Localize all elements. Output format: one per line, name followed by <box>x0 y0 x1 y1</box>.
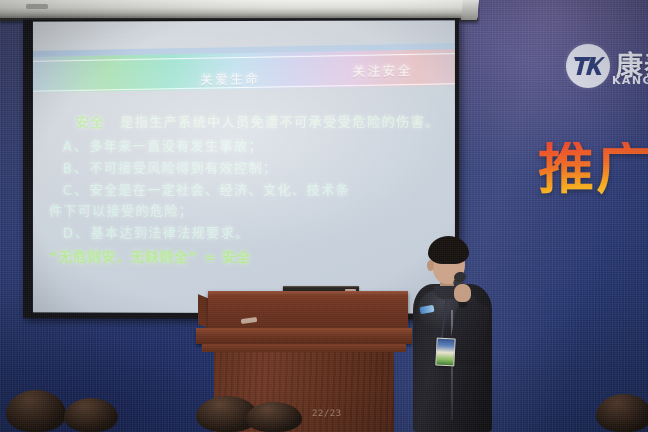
audience-head <box>596 394 648 432</box>
slide-item-label: C、 <box>63 183 90 199</box>
presentation-photo: 康泰 KANGT 推广 关爱生命 关注安全 安全 是指生产系统中人员免遭不可承受… <box>0 0 648 432</box>
slide-list-item: C、安全是在一定社会、经济、文化、技术条 <box>49 181 443 203</box>
slide-item-text: 多年来一直没有发生事故； <box>89 139 262 155</box>
slide-lead-text: 是指生产系统中人员免遭不可承受受危险的伤害。 <box>120 115 439 131</box>
podium-desktop-bevel <box>208 291 408 296</box>
speaker-ear <box>427 260 434 271</box>
speaker-hair <box>428 236 469 264</box>
projection-screen: 关爱生命 关注安全 安全 是指生产系统中人员免遭不可承受受危险的伤害。 A、多年… <box>33 20 455 313</box>
company-name-latin: KANGT <box>612 74 648 87</box>
speaker-figure <box>406 228 498 432</box>
slide-list-item: D、基本达到法律法规要求。 <box>49 224 443 246</box>
audience-head <box>6 390 66 432</box>
banner-headline: 推广 <box>538 142 648 198</box>
slide-item-label: D、 <box>63 226 91 242</box>
page-indicator: 22/23 <box>312 409 342 419</box>
slide-item-text: 不可接受风险得到有效控制； <box>89 161 277 177</box>
roller-end-cap <box>461 0 479 20</box>
slide-list-item: B、不可接受风险得到有效控制； <box>49 159 443 181</box>
slide-band-title-right: 关注安全 <box>352 60 412 80</box>
podium-cornice-lower <box>202 344 406 352</box>
speaker-hand <box>454 284 471 302</box>
audience-head <box>246 402 302 432</box>
slide-list-item: A、多年来一直没有发生事故； <box>49 137 443 159</box>
audience-head <box>64 398 118 432</box>
projection-screen-frame: 关爱生命 关注安全 安全 是指生产系统中人员免遭不可承受受危险的伤害。 A、多年… <box>23 18 459 319</box>
slide-item-text: 件下可以接受的危险； <box>49 204 193 220</box>
slide-item-label: A、 <box>63 139 90 155</box>
podium-desktop <box>208 291 408 331</box>
slide-item-text: 基本达到法律法规要求。 <box>90 226 249 242</box>
podium-cornice <box>196 328 412 344</box>
slide-band-title-left: 关爱生命 <box>200 68 260 88</box>
slide-item-text: 安全是在一定社会、经济、文化、技术条 <box>89 183 350 199</box>
slide-lead-paragraph: 安全 是指生产系统中人员免遭不可承受受危险的伤害。 <box>49 113 443 135</box>
speaker-name-badge <box>435 338 455 367</box>
slide-lead-keyword: 安全 <box>76 115 105 131</box>
slide-item-label: B、 <box>63 161 90 177</box>
slide-list-item-continuation: 件下可以接受的危险； <box>49 202 443 224</box>
slide-conclusion: “无危则安，无缺则全” = 安全 <box>49 248 443 271</box>
roller-cap <box>26 4 48 9</box>
slide-body: 安全 是指生产系统中人员免遭不可承受受危险的伤害。 A、多年来一直没有发生事故；… <box>49 113 443 271</box>
tk-monogram-icon <box>566 44 610 88</box>
